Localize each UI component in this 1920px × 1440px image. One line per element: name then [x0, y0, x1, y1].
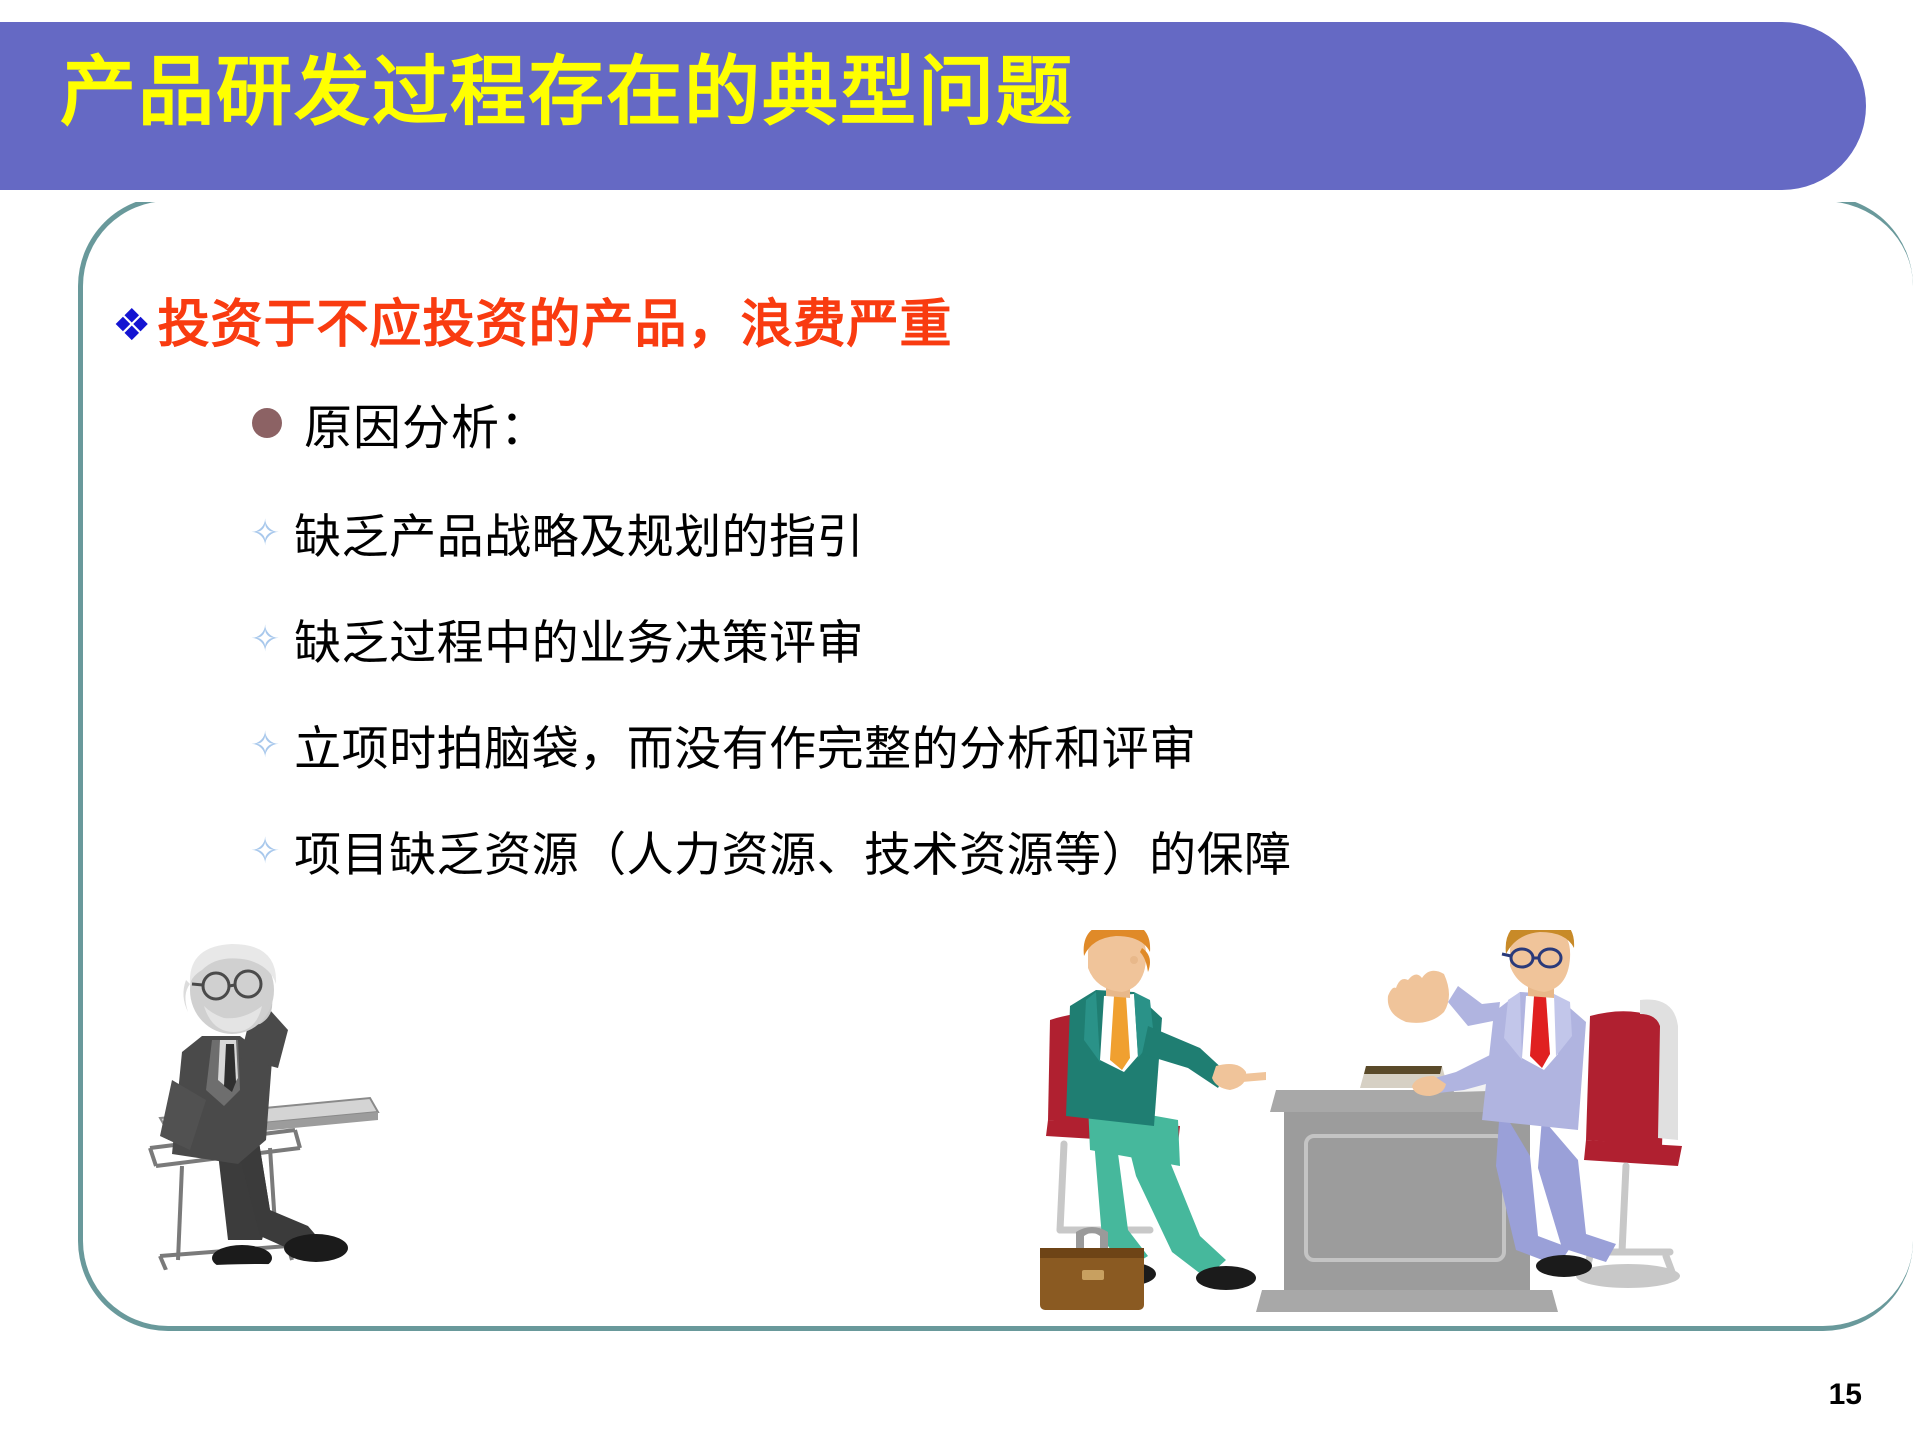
title-banner: 产品研发过程存在的典型问题 [0, 22, 1866, 190]
page-number: 15 [1829, 1378, 1862, 1412]
page-title: 产品研发过程存在的典型问题 [60, 52, 1074, 132]
slide-canvas: 产品研发过程存在的典型问题 ❖ 投资于不应投资的产品，浪费严重 原因分析： ✧ … [0, 0, 1920, 1440]
business-meeting-clipart [1030, 930, 1770, 1330]
thinking-man-clipart [120, 940, 450, 1310]
